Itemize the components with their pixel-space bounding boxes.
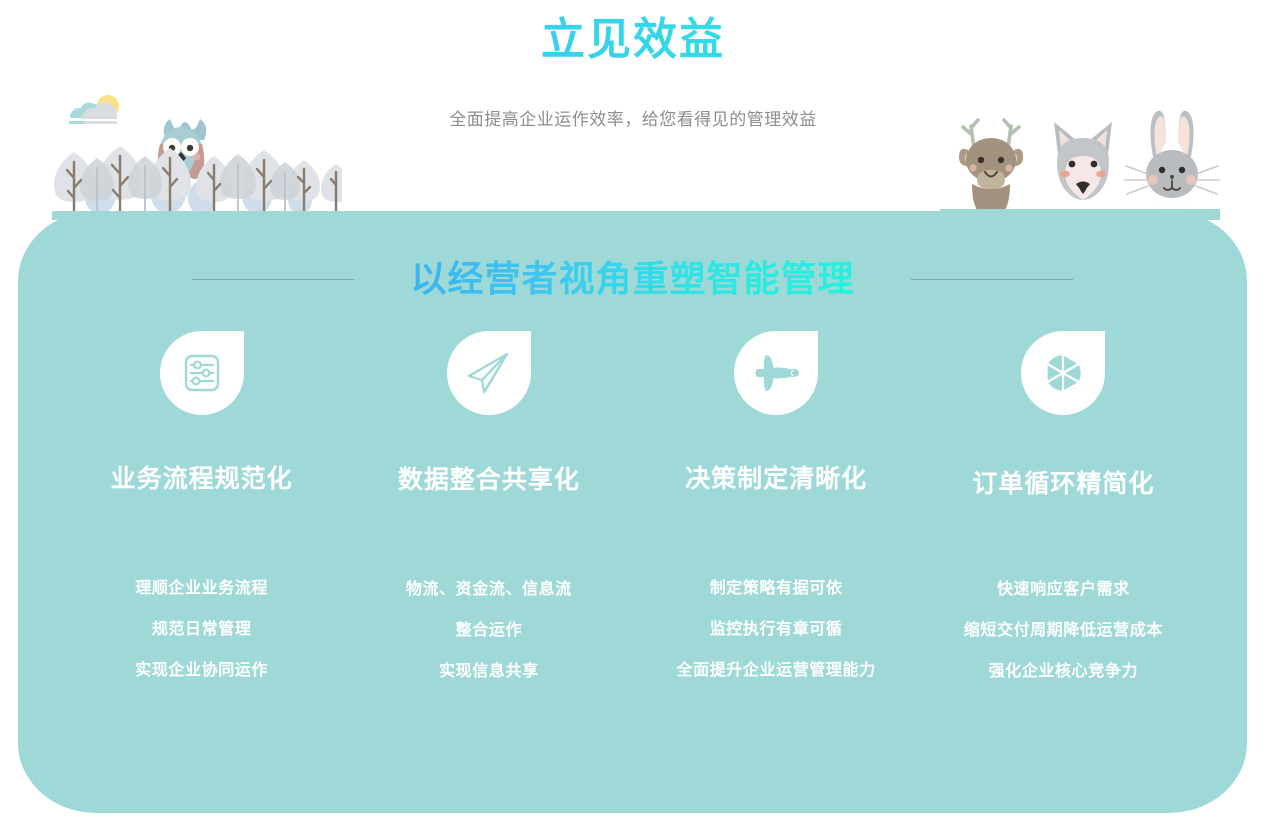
feature-column-3[interactable]: 决策制定清晰化 制定策略有据可依 监控执行有章可循 全面提升企业运营管理能力 xyxy=(633,331,920,682)
forest-owl-scene xyxy=(52,92,342,220)
rabbit-icon xyxy=(1125,111,1219,212)
divider-line-left xyxy=(192,279,354,280)
feature-column-4[interactable]: 订单循环精简化 快速响应客户需求 缩短交付周期降低运营成本 强化企业核心竞争力 xyxy=(920,331,1207,683)
feature-description: 快速响应客户需求 缩短交付周期降低运营成本 强化企业核心竞争力 xyxy=(964,579,1163,683)
feature-title: 数据整合共享化 xyxy=(398,463,580,497)
feature-line: 缩短交付周期降低运营成本 xyxy=(964,620,1163,642)
feature-line: 物流、资金流、信息流 xyxy=(406,579,572,601)
sliders-icon xyxy=(160,331,244,415)
page-root: 立见效益 全面提高企业运作效率，给您看得见的管理效益 xyxy=(0,0,1266,826)
paper-plane-icon xyxy=(447,331,531,415)
feature-line: 实现信息共享 xyxy=(439,661,539,683)
feature-line: 理顺企业业务流程 xyxy=(135,578,268,600)
cloud-icon xyxy=(69,102,117,124)
benefits-card: 以经营者视角重塑智能管理 xyxy=(18,211,1247,813)
divider-line-right xyxy=(911,279,1073,280)
space-shuttle-icon xyxy=(734,331,818,415)
page-title: 立见效益 xyxy=(0,12,1266,68)
feature-line: 强化企业核心竞争力 xyxy=(989,661,1138,683)
feature-description: 制定策略有据可依 监控执行有章可循 全面提升企业运营管理能力 xyxy=(677,578,876,682)
feature-line: 整合运作 xyxy=(456,620,522,642)
feature-title: 业务流程规范化 xyxy=(111,462,293,496)
feature-line: 快速响应客户需求 xyxy=(997,579,1130,601)
feature-description: 理顺企业业务流程 规范日常管理 实现企业协同运作 xyxy=(135,578,268,682)
deer-wolf-rabbit-scene xyxy=(940,96,1220,220)
feature-line: 监控执行有章可循 xyxy=(710,619,843,641)
feature-line: 规范日常管理 xyxy=(152,619,252,641)
feature-line: 全面提升企业运营管理能力 xyxy=(677,660,876,682)
feature-column-2[interactable]: 数据整合共享化 物流、资金流、信息流 整合运作 实现信息共享 xyxy=(345,331,632,683)
deer-icon xyxy=(959,120,1023,218)
feature-column-1[interactable]: 业务流程规范化 理顺企业业务流程 规范日常管理 实现企业协同运作 xyxy=(58,331,345,682)
feature-title: 决策制定清晰化 xyxy=(685,462,867,496)
feature-line: 制定策略有据可依 xyxy=(710,578,843,600)
aperture-icon xyxy=(1021,331,1105,415)
feature-grid: 业务流程规范化 理顺企业业务流程 规范日常管理 实现企业协同运作 xyxy=(58,331,1207,683)
feature-line: 实现企业协同运作 xyxy=(135,660,268,682)
wolf-icon xyxy=(1054,122,1112,200)
card-heading: 以经营者视角重塑智能管理 xyxy=(410,254,854,304)
feature-description: 物流、资金流、信息流 整合运作 实现信息共享 xyxy=(406,579,572,683)
feature-title: 订单循环精简化 xyxy=(972,467,1154,501)
card-heading-row: 以经营者视角重塑智能管理 xyxy=(18,251,1247,307)
